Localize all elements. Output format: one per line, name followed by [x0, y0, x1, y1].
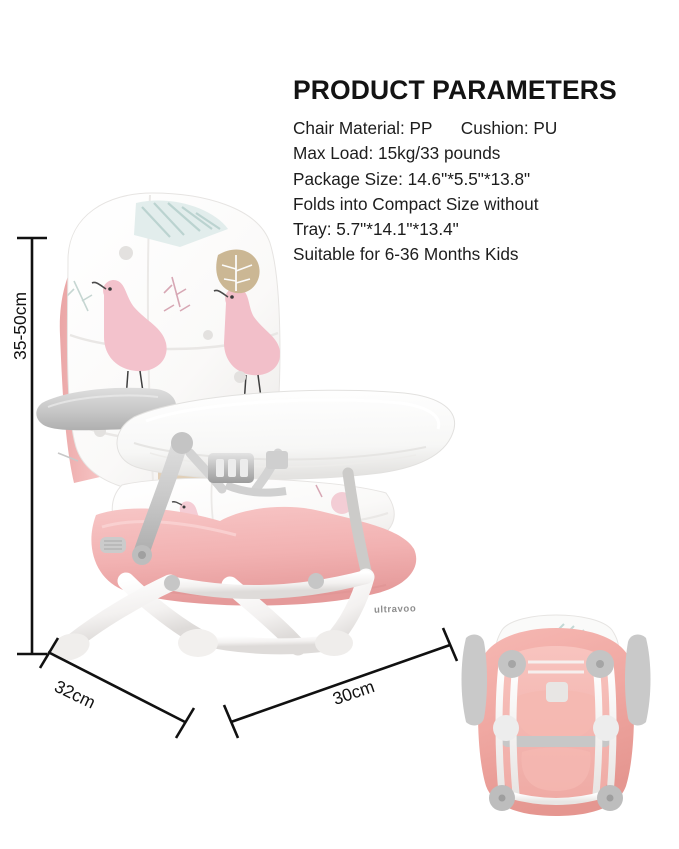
dimension-label-depth: 32cm [51, 676, 99, 713]
harness-buckle [208, 453, 254, 483]
folded-buckle [546, 682, 568, 702]
product-photo-chair-folded [440, 600, 672, 825]
harness-slot [266, 451, 288, 469]
leg-hinge [164, 575, 180, 591]
dimension-label-height: 35-50cm [10, 292, 31, 360]
brand-logo-tray: ultravoo [374, 603, 417, 615]
dimension-label-width: 30cm [330, 676, 377, 710]
leg-hinge [308, 573, 324, 589]
dimension-cap-depth-right [176, 708, 194, 738]
foot [178, 629, 218, 657]
page-title: PRODUCT PARAMETERS [293, 76, 665, 105]
chair-folded-artwork [440, 600, 672, 825]
chair-open-artwork [30, 185, 460, 660]
folded-strap [502, 736, 610, 747]
spec-line: Chair Material: PP Cushion: PU [293, 116, 665, 141]
dimension-cap-width-left [224, 705, 238, 738]
folding-leg-frame [47, 573, 366, 665]
spec-line: Max Load: 15kg/33 pounds [293, 141, 665, 166]
height-adjust-button[interactable] [100, 537, 126, 553]
foot [315, 630, 353, 656]
product-photo-chair-open: ultravoo [30, 185, 460, 660]
